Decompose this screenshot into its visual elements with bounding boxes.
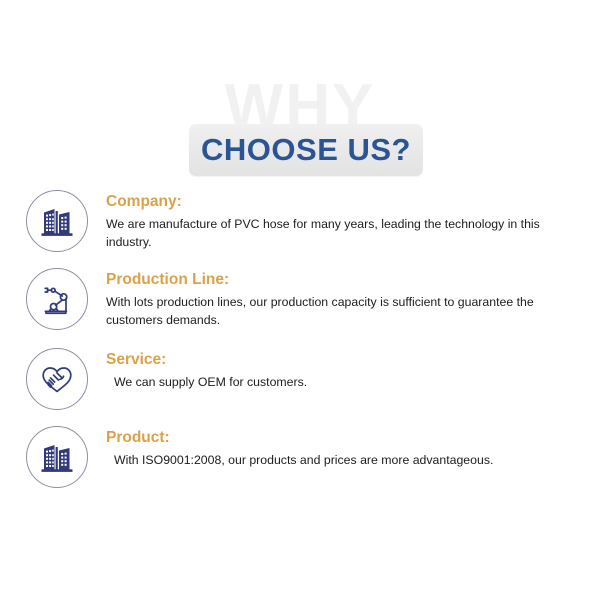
feature-item-company: Company: We are manufacture of PVC hose … <box>26 190 576 252</box>
feature-title: Product: <box>106 429 576 447</box>
feature-title: Production Line: <box>106 271 576 289</box>
feature-description: We are manufacture of PVC hose for many … <box>106 216 576 252</box>
feature-title: Service: <box>106 351 576 369</box>
feature-title: Company: <box>106 193 576 211</box>
feature-item-product: Product: With ISO9001:2008, our products… <box>26 426 576 488</box>
page-title: CHOOSE US? <box>201 132 411 168</box>
feature-description: With lots production lines, our producti… <box>106 294 576 330</box>
feature-body: Company: We are manufacture of PVC hose … <box>106 190 576 251</box>
feature-description: With ISO9001:2008, our products and pric… <box>106 452 576 470</box>
feature-description: We can supply OEM for customers. <box>106 374 576 392</box>
office-buildings-icon <box>26 426 88 488</box>
office-buildings-icon <box>26 190 88 252</box>
handshake-heart-icon <box>26 348 88 410</box>
feature-item-service: Service: We can supply OEM for customers… <box>26 348 576 410</box>
feature-body: Service: We can supply OEM for customers… <box>106 348 576 392</box>
feature-list: Company: We are manufacture of PVC hose … <box>0 190 600 488</box>
robot-arm-icon <box>26 268 88 330</box>
choose-us-title-plate: CHOOSE US? <box>189 124 423 176</box>
feature-body: Product: With ISO9001:2008, our products… <box>106 426 576 470</box>
feature-item-production-line: Production Line: With lots production li… <box>26 268 576 330</box>
feature-body: Production Line: With lots production li… <box>106 268 576 329</box>
page-banner: WHY CHOOSE US? <box>0 0 600 190</box>
